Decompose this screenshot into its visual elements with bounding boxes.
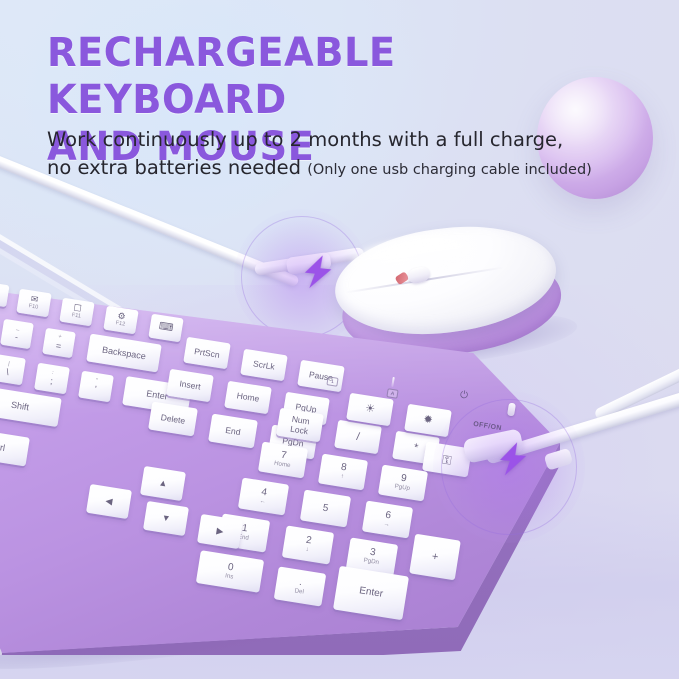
subheadline-parenthetical: (Only one usb charging cable included) — [307, 162, 592, 178]
subheadline: Work continuously up to 2 months with a … — [47, 126, 657, 181]
headline-line-1: RECHARGEABLE KEYBOARD — [47, 30, 623, 124]
key-equal[interactable]: += — [42, 328, 76, 358]
key-quote[interactable]: "' — [78, 371, 114, 403]
product-hero-image: ♪ ✉F10 ☐F11 ⚙F12 ⌨ )0 _- += Backspace }]… — [0, 0, 679, 679]
key-minus[interactable]: _- — [0, 319, 34, 349]
power-icon: ⏻ — [459, 389, 469, 401]
lightning-bolt-icon — [497, 441, 529, 477]
key-calculator[interactable]: ⌨ — [148, 314, 183, 343]
subheadline-line-2: no extra batteries needed (Only one usb … — [47, 154, 657, 182]
key-numpad-plus[interactable]: + — [409, 534, 461, 581]
num-lock-led: 1 — [326, 376, 338, 387]
key-backslash[interactable]: |\ — [0, 354, 26, 386]
key-f11[interactable]: ☐F11 — [59, 298, 94, 327]
subheadline-line-2-main: no extra batteries needed — [47, 156, 307, 179]
key-f12[interactable]: ⚙F12 — [103, 306, 138, 335]
key-f10[interactable]: ✉F10 — [16, 289, 51, 318]
caps-lock-led: A — [386, 388, 398, 399]
subheadline-line-1: Work continuously up to 2 months with a … — [47, 126, 657, 154]
key-semicolon[interactable]: :; — [34, 363, 70, 395]
